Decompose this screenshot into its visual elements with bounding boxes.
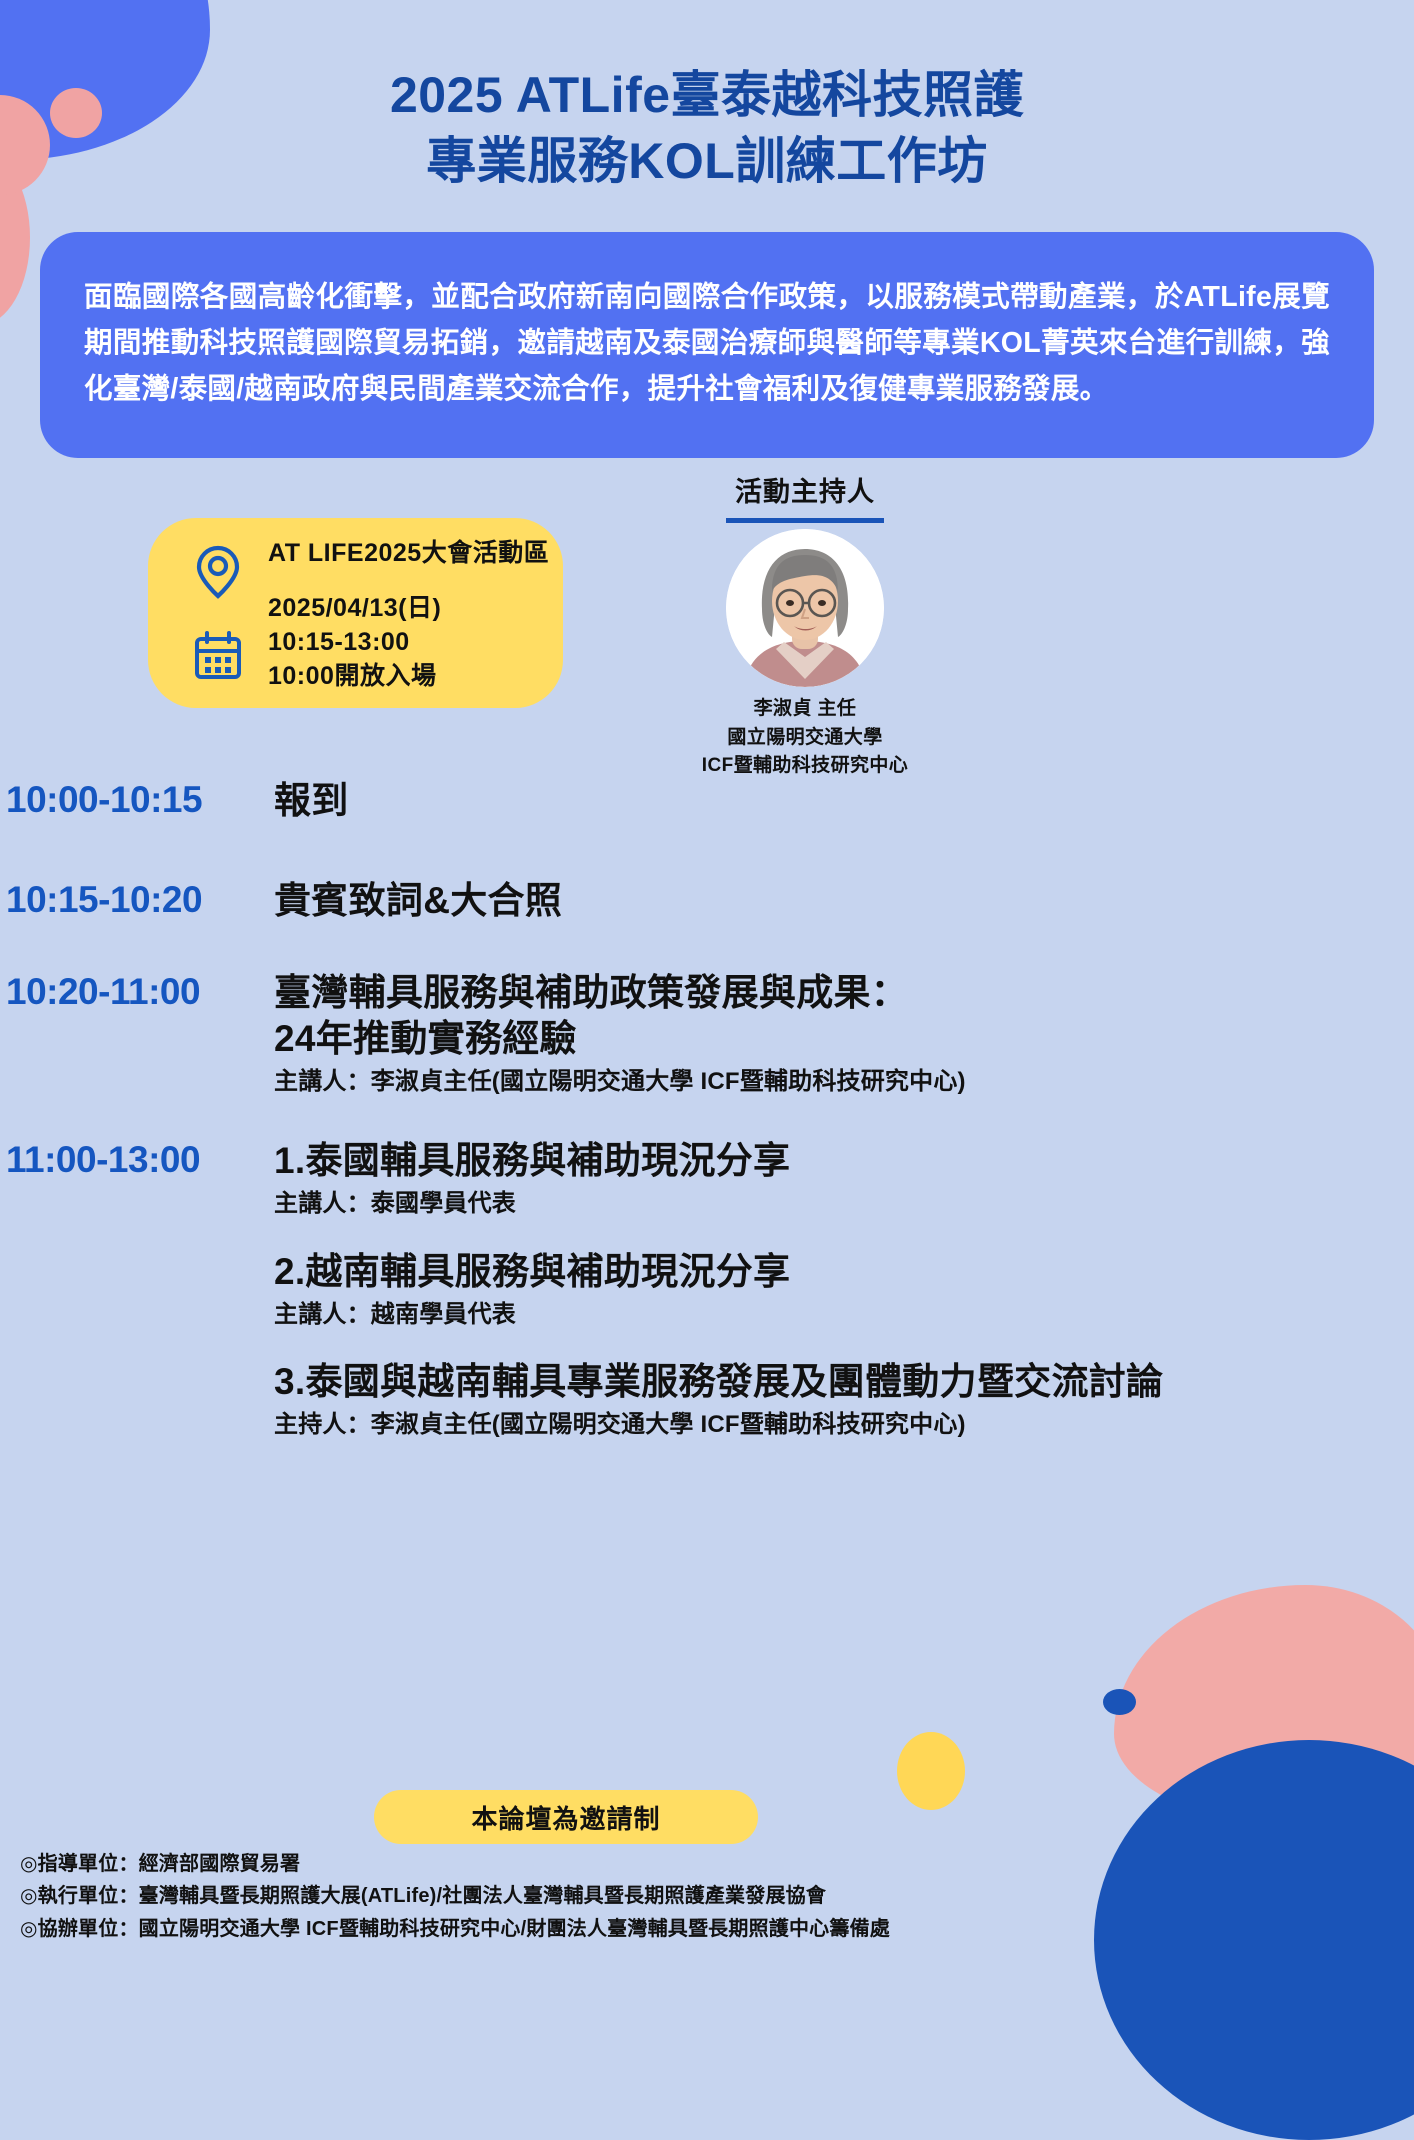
page-title-line-1: 2025 ATLife臺泰越科技照護: [0, 62, 1414, 128]
host-heading-underline: [726, 518, 884, 523]
organizer-list: ◎指導單位：經濟部國際貿易署 ◎執行單位：臺灣輔具暨長期照護大展(ATLife)…: [20, 1848, 890, 1945]
host-block: 活動主持人: [645, 470, 965, 781]
agenda-item: 2.越南輔具服務與補助現況分享 主講人：越南學員代表: [274, 1249, 1414, 1331]
agenda-item-title: 臺灣輔具服務與補助政策發展與成果：: [274, 970, 1414, 1016]
agenda-item: 報到: [274, 778, 1414, 824]
map-pin-icon: [195, 544, 241, 605]
event-date: 2025/04/13(日): [268, 591, 549, 625]
organizer-line-execution: ◎執行單位：臺灣輔具暨長期照護大展(ATLife)/社團法人臺灣輔具暨長期照護產…: [20, 1880, 890, 1912]
agenda-item-moderator: 主持人：李淑貞主任(國立陽明交通大學 ICF暨輔助科技研究中心): [274, 1409, 1414, 1441]
agenda-item-speaker: 主講人：李淑貞主任(國立陽明交通大學 ICF暨輔助科技研究中心): [274, 1066, 1414, 1098]
agenda-item-title: 貴賓致詞&大合照: [274, 878, 1414, 924]
poster-page: 2025 ATLife臺泰越科技照護 專業服務KOL訓練工作坊 面臨國際各國高齡…: [0, 0, 1414, 2000]
host-affiliation: 國立陽明交通大學: [645, 724, 965, 753]
agenda-row: 10:00-10:15 報到: [6, 778, 1414, 824]
page-title: 2025 ATLife臺泰越科技照護 專業服務KOL訓練工作坊: [0, 0, 1414, 194]
agenda-time-slot: 10:00-10:15: [6, 778, 274, 822]
agenda-time-slot: 11:00-13:00: [6, 1138, 274, 1182]
page-title-line-2: 專業服務KOL訓練工作坊: [0, 128, 1414, 194]
event-doors-open: 10:00開放入場: [268, 659, 549, 693]
agenda-row: 10:20-11:00 臺灣輔具服務與補助政策發展與成果： 24年推動實務經驗 …: [6, 970, 1414, 1098]
host-heading: 活動主持人: [645, 470, 965, 509]
agenda-item: 臺灣輔具服務與補助政策發展與成果： 24年推動實務經驗 主講人：李淑貞主任(國立…: [274, 970, 1414, 1098]
footer: 本論壇為邀請制 ◎指導單位：經濟部國際貿易署 ◎執行單位：臺灣輔具暨長期照護大展…: [0, 1770, 1414, 2000]
agenda-item-title: 報到: [274, 778, 1414, 824]
agenda-item: 1.泰國輔具服務與補助現況分享 主講人：泰國學員代表: [274, 1138, 1414, 1220]
agenda-item-title: 1.泰國輔具服務與補助現況分享: [274, 1138, 1414, 1184]
agenda-row: 11:00-13:00 1.泰國輔具服務與補助現況分享 主講人：泰國學員代表 2…: [6, 1138, 1414, 1441]
event-and-host-band: AT LIFE2025大會活動區 2025/04/13(日) 10:15-13:…: [0, 470, 1414, 770]
agenda-item-title-cont: 24年推動實務經驗: [274, 1016, 1414, 1062]
agenda-time-slot: 10:20-11:00: [6, 970, 274, 1014]
agenda-item: 3.泰國與越南輔具專業服務發展及團體動力暨交流討論 主持人：李淑貞主任(國立陽明…: [274, 1359, 1414, 1441]
avatar: [726, 529, 884, 687]
agenda-item-speaker: 主講人：泰國學員代表: [274, 1188, 1414, 1220]
agenda-body: 報到: [274, 778, 1414, 824]
organizer-line-guidance: ◎指導單位：經濟部國際貿易署: [20, 1848, 890, 1880]
agenda-item-speaker: 主講人：越南學員代表: [274, 1299, 1414, 1331]
agenda-item: 貴賓致詞&大合照: [274, 878, 1414, 924]
agenda-body: 貴賓致詞&大合照: [274, 878, 1414, 924]
host-center: ICF暨輔助科技研究中心: [645, 752, 965, 781]
agenda-item-title: 2.越南輔具服務與補助現況分享: [274, 1249, 1414, 1295]
agenda-body: 臺灣輔具服務與補助政策發展與成果： 24年推動實務經驗 主講人：李淑貞主任(國立…: [274, 970, 1414, 1098]
invitation-only-badge: 本論壇為邀請制: [374, 1790, 758, 1844]
agenda-body: 1.泰國輔具服務與補助現況分享 主講人：泰國學員代表 2.越南輔具服務與補助現況…: [274, 1138, 1414, 1441]
agenda-item-title: 3.泰國與越南輔具專業服務發展及團體動力暨交流討論: [274, 1359, 1414, 1405]
event-location: AT LIFE2025大會活動區: [268, 533, 549, 569]
event-time: 10:15-13:00: [268, 625, 549, 659]
intro-description-box: 面臨國際各國高齡化衝擊，並配合政府新南向國際合作政策，以服務模式帶動產業，於AT…: [40, 232, 1374, 458]
calendar-icon: [193, 631, 243, 686]
host-name: 李淑貞 主任: [645, 695, 965, 724]
organizer-line-coorganize: ◎協辦單位：國立陽明交通大學 ICF暨輔助科技研究中心/財團法人臺灣輔具暨長期照…: [20, 1913, 890, 1945]
event-icon-column: [178, 540, 258, 686]
agenda-row: 10:15-10:20 貴賓致詞&大合照: [6, 878, 1414, 924]
agenda-time-slot: 10:15-10:20: [6, 878, 274, 922]
agenda-list: 10:00-10:15 報到 10:15-10:20 貴賓致詞&大合照 10:2…: [0, 778, 1414, 1441]
event-details-card: AT LIFE2025大會活動區 2025/04/13(日) 10:15-13:…: [148, 518, 563, 708]
event-text-column: AT LIFE2025大會活動區 2025/04/13(日) 10:15-13:…: [258, 533, 549, 693]
intro-paragraph: 面臨國際各國高齡化衝擊，並配合政府新南向國際合作政策，以服務模式帶動產業，於AT…: [84, 281, 1330, 405]
